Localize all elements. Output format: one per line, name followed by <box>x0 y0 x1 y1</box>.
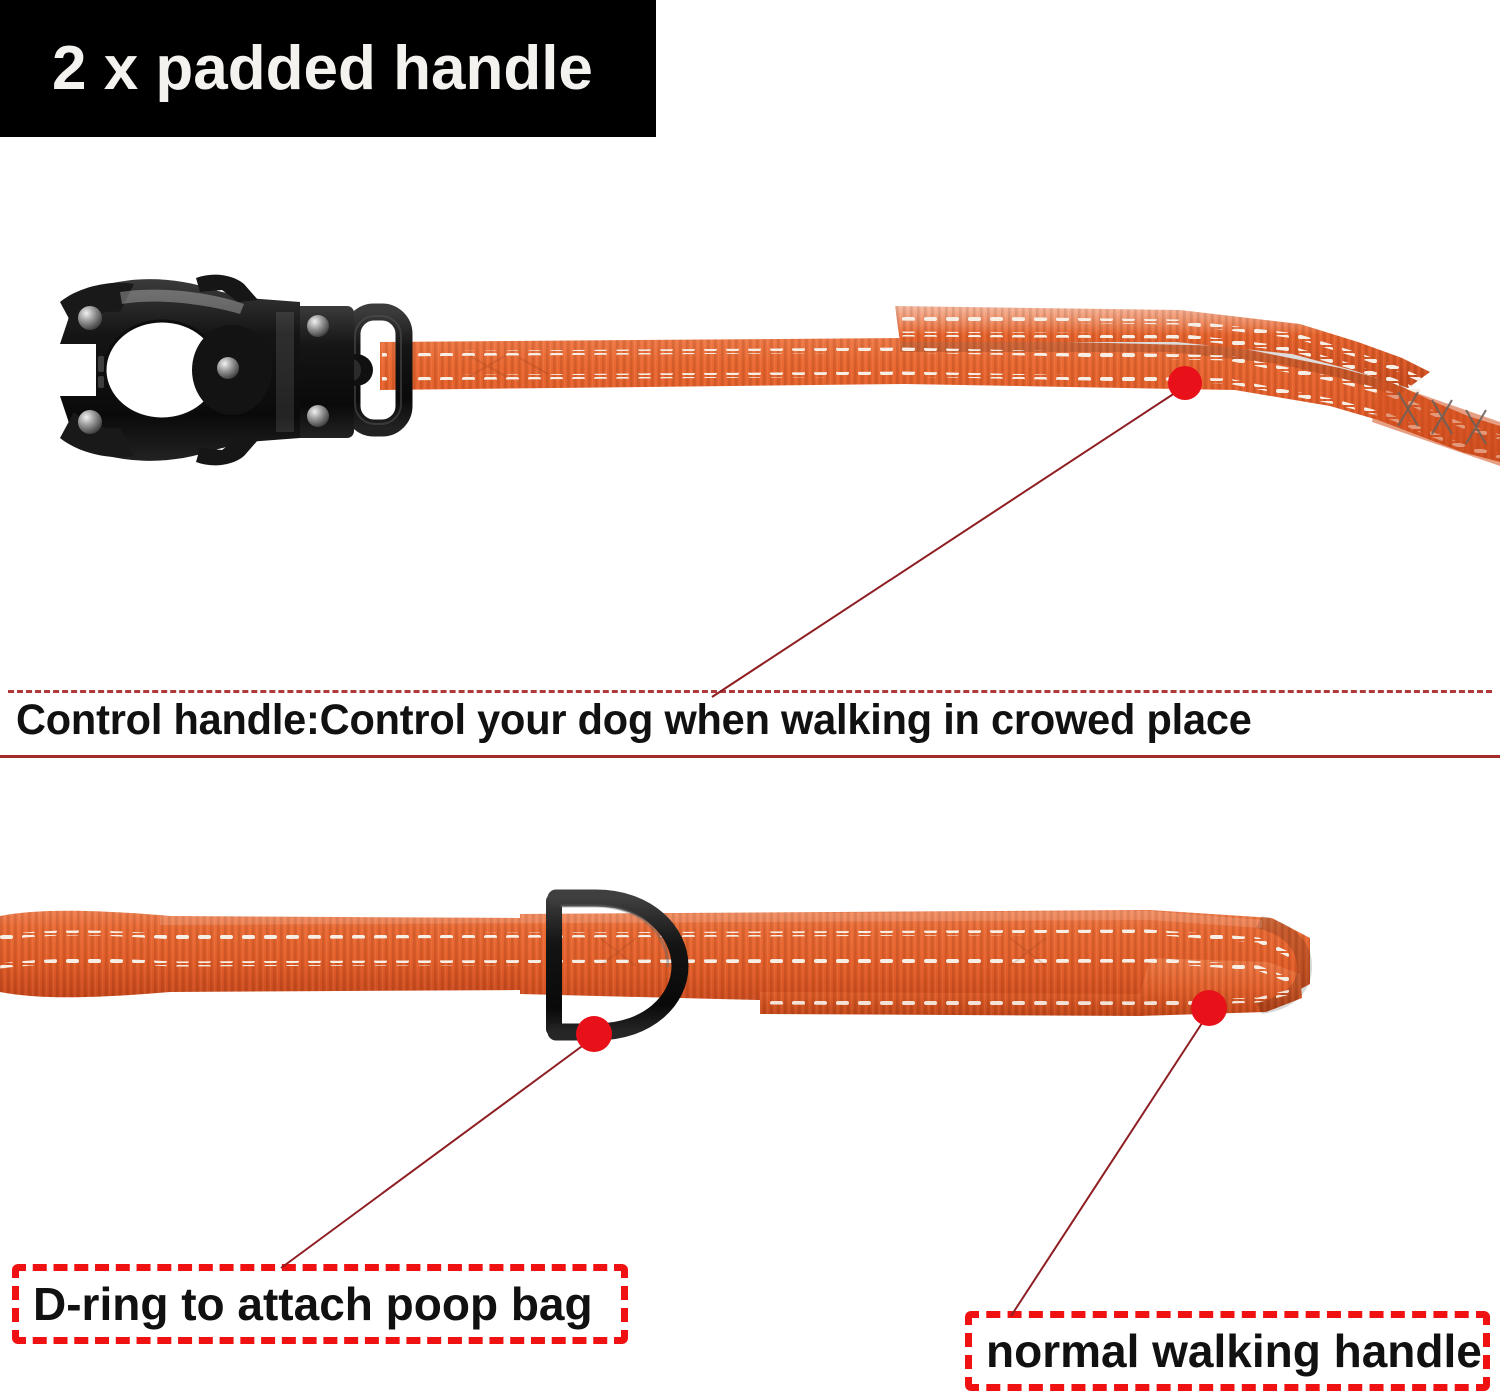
caption-bottom-rule <box>0 755 1500 758</box>
caption-band: Control handle:Control your dog when wal… <box>0 690 1500 758</box>
bungee-section <box>1372 380 1500 466</box>
title-banner: 2 x padded handle <box>0 0 656 137</box>
banner-title: 2 x padded handle <box>0 38 593 100</box>
callout-label-walking-handle: normal walking handle <box>972 1328 1482 1374</box>
infographic-page: 2 x padded handle <box>0 0 1500 1394</box>
bottom-product-photo <box>0 880 1500 1050</box>
caption-label: Control handle:Control your dog when wal… <box>16 696 1252 745</box>
callout-box-walking-handle: normal walking handle <box>965 1311 1490 1391</box>
callout-label-d-ring: D-ring to attach poop bag <box>19 1281 593 1327</box>
caption-top-dashed-rule <box>8 690 1492 693</box>
leader-line-walking-handle <box>1011 1017 1206 1316</box>
callout-box-d-ring: D-ring to attach poop bag <box>12 1264 628 1344</box>
leader-line-d-ring <box>281 1041 589 1268</box>
top-product-photo <box>0 250 1500 540</box>
frog-clip <box>60 275 354 466</box>
webbing-strap-top <box>380 306 1500 466</box>
